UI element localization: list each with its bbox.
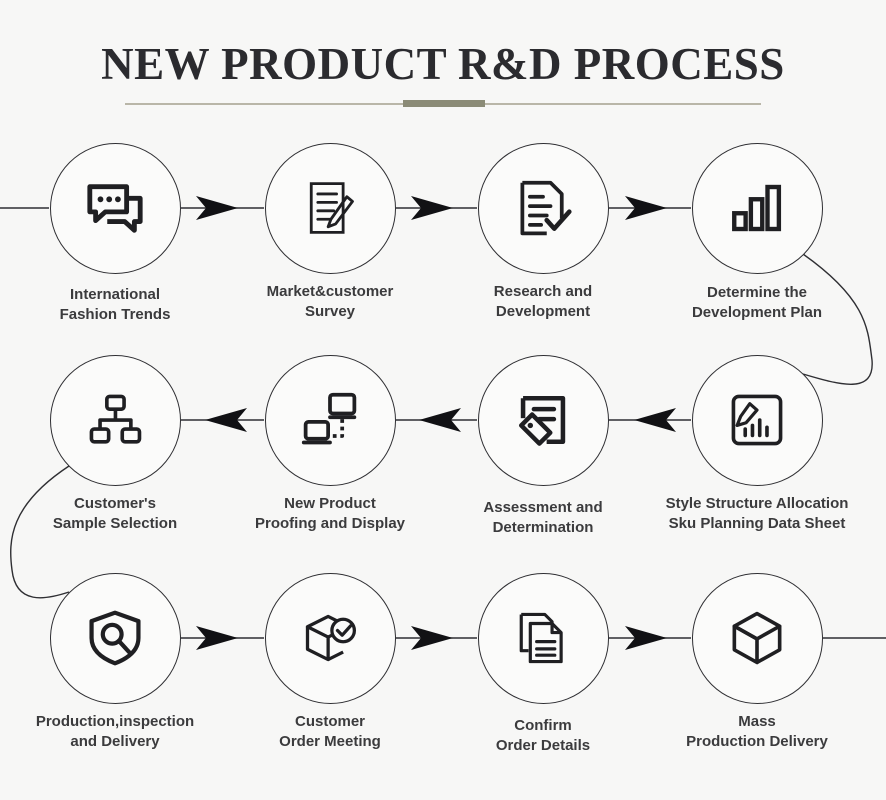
step-circle[interactable] (265, 573, 396, 704)
box-check-icon (300, 608, 360, 668)
step-circle[interactable] (478, 573, 609, 704)
document-pencil-icon (300, 178, 360, 238)
step-circle[interactable] (265, 355, 396, 486)
step-label: Determine the Development Plan (627, 283, 886, 323)
step-circle[interactable] (692, 573, 823, 704)
process-diagram-canvas: NEW PRODUCT R&D PROCESS (0, 0, 886, 800)
step-circle[interactable] (50, 143, 181, 274)
step-label: Mass Production Delivery (627, 712, 886, 752)
step-circle[interactable] (478, 143, 609, 274)
two-monitors-icon (300, 390, 360, 450)
cube-3d-icon (728, 609, 786, 667)
bar-chart-icon (729, 180, 785, 236)
documents-stack-icon (514, 609, 572, 667)
shield-search-icon (85, 608, 145, 668)
step-circle[interactable] (265, 143, 396, 274)
chat-bubbles-icon (84, 177, 146, 239)
step-label: Style Structure Allocation Sku Planning … (627, 494, 886, 534)
step-circle[interactable] (692, 143, 823, 274)
document-tag-icon (514, 391, 572, 449)
step-circle[interactable] (692, 355, 823, 486)
chart-pencil-icon (728, 391, 786, 449)
org-chart-icon (86, 391, 144, 449)
document-check-icon (513, 178, 573, 238)
step-circle[interactable] (478, 355, 609, 486)
step-circle[interactable] (50, 355, 181, 486)
step-circle[interactable] (50, 573, 181, 704)
